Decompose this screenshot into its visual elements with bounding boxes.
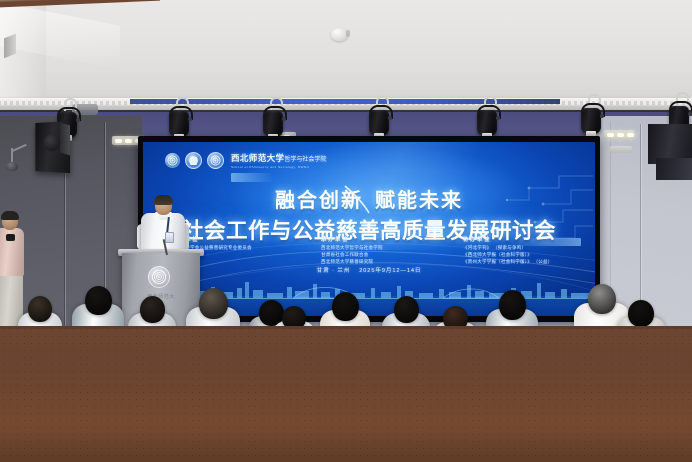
organizer-heading: 主办单位	[171, 235, 321, 243]
wordmark-university: 西北师范大学	[231, 153, 284, 163]
wall-mounted-loudspeaker	[656, 158, 692, 180]
handheld-camera	[6, 234, 15, 241]
loudspeaker-bracket	[60, 123, 70, 156]
audience-head	[588, 284, 616, 314]
organizer-column-organizer: 承办单位 西北师范大学哲学与社会学院 甘肃省社会工作联合会 西北师范大学慈善研究…	[321, 235, 463, 266]
bottom-vignette	[0, 432, 692, 462]
spotlight-knob	[496, 116, 500, 120]
downlight	[627, 133, 634, 137]
university-seal-logo	[207, 152, 224, 169]
organizer-line: 甘肃省社会工作联合会	[321, 252, 463, 259]
organizer-line: 《河北学刊》 （探索与争鸣）	[463, 245, 553, 252]
downlight-plate	[610, 146, 632, 153]
organizer-heading: 承办单位	[321, 235, 463, 243]
society-emblem-logo	[165, 153, 180, 168]
university-wordmark: 西北师范大学哲学与社会学院 School of Philosophy and S…	[231, 152, 326, 169]
organizer-line: 《西北师大学报（社会科学版）》	[463, 252, 553, 259]
spotlight-knob	[76, 118, 80, 122]
spotlight-knob	[388, 116, 392, 120]
audience-head	[85, 286, 112, 315]
conference-hall-photo: 西北师范大学哲学与社会学院 School of Philosophy and S…	[0, 0, 692, 462]
headline-top-first: 融合创新	[275, 188, 363, 212]
downlight	[125, 139, 132, 143]
ceiling-dome-camera	[6, 158, 18, 171]
smoke-detector-icon	[331, 28, 348, 41]
audience-head	[499, 290, 526, 320]
organizer-line: 西北师范大学慈善研究院	[321, 259, 463, 266]
downlight	[617, 133, 624, 137]
spotlight-knob	[282, 117, 286, 121]
presenter-at-lectern	[140, 196, 186, 256]
spotlight-knob	[688, 112, 692, 116]
headline-top-second: 赋能未来	[375, 188, 463, 212]
audience-head	[199, 288, 228, 319]
downlight	[607, 133, 614, 137]
organizer-line: 西北师范大学哲学与社会学院	[321, 245, 463, 252]
audience-head	[140, 296, 165, 323]
spotlight-knob	[188, 117, 192, 121]
attendee-hair	[1, 211, 19, 220]
organizer-line: 《贵州大学学报（社会科学版）》 （公益）	[463, 259, 553, 266]
audience-head	[332, 292, 359, 321]
audience-head	[28, 296, 52, 322]
organizer-column-coorganizer: 协办单位 《河北学刊》 （探索与争鸣） 《西北师大学报（社会科学版）》 《贵州大…	[463, 235, 553, 266]
stage-spotlight	[580, 102, 602, 138]
organizer-heading: 协办单位	[463, 235, 553, 243]
audience-head	[628, 300, 654, 327]
camera-dome-icon	[6, 162, 18, 171]
wordmark-english: School of Philosophy and Sociology, NWNU	[231, 165, 326, 169]
university-crest	[148, 266, 170, 288]
audience-head	[394, 296, 419, 323]
stage-spotlight	[368, 104, 390, 140]
screen-accent-bar	[231, 173, 273, 182]
organizer-columns: 主办单位 中国社会学会公益慈善研究专业委员会 西北师范大学 承办单位 西北师范大…	[171, 235, 567, 266]
wordmark-school: 哲学与社会学院	[284, 157, 326, 163]
downlight	[115, 139, 122, 143]
screen-logo-row: 西北师范大学哲学与社会学院 School of Philosophy and S…	[165, 152, 326, 169]
stage-spotlight	[476, 104, 498, 140]
presenter-hair	[154, 195, 173, 205]
spotlight-knob	[600, 114, 604, 118]
presenter-name-badge	[165, 232, 174, 243]
institute-emblem-logo	[185, 152, 202, 169]
